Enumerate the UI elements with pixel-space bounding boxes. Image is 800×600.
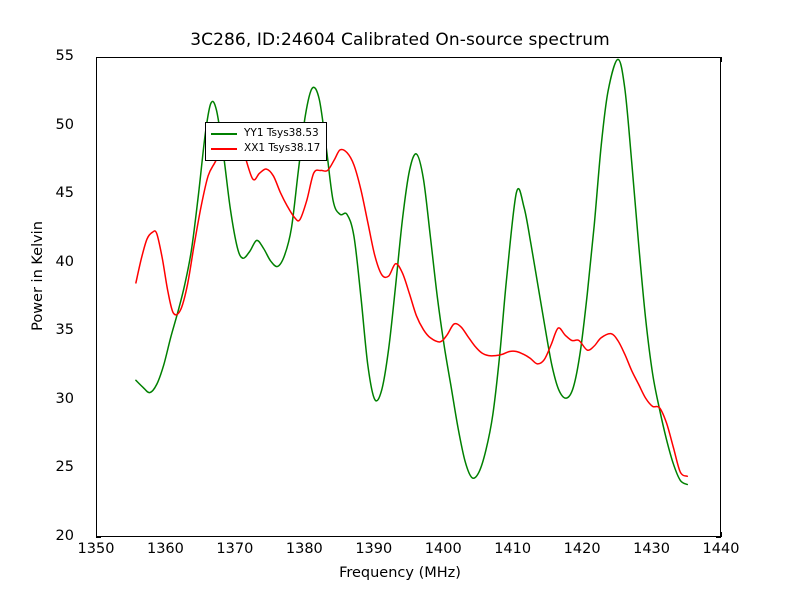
y-tick-label: 40 [14, 254, 74, 270]
x-tick-label: 1350 [61, 541, 131, 557]
y-tick-mark [96, 537, 101, 538]
x-tick-label: 1370 [200, 541, 270, 557]
y-axis-label: Power in Kelvin [30, 86, 46, 466]
x-tick-mark [721, 532, 722, 537]
y-tick-label: 45 [14, 185, 74, 201]
y-tick-mark [716, 537, 721, 538]
x-tick-label: 1360 [130, 541, 200, 557]
x-tick-label: 1440 [686, 541, 756, 557]
y-tick-label: 25 [14, 459, 74, 475]
plot-area: YY1 Tsys38.53 XX1 Tsys38.17 [96, 57, 721, 537]
legend-item: YY1 Tsys38.53 [211, 126, 320, 141]
curve-canvas [97, 58, 720, 536]
x-tick-mark [721, 57, 722, 62]
y-tick-label: 30 [14, 391, 74, 407]
legend-swatch-yy1 [211, 133, 237, 135]
x-tick-label: 1380 [269, 541, 339, 557]
x-tick-label: 1390 [339, 541, 409, 557]
x-tick-label: 1420 [547, 541, 617, 557]
legend: YY1 Tsys38.53 XX1 Tsys38.17 [205, 122, 327, 161]
x-tick-label: 1410 [478, 541, 548, 557]
legend-label-xx1: XX1 Tsys38.17 [244, 141, 320, 156]
y-tick-label: 35 [14, 322, 74, 338]
x-tick-label: 1400 [408, 541, 478, 557]
legend-label-yy1: YY1 Tsys38.53 [244, 126, 319, 141]
y-tick-label: 55 [14, 48, 74, 64]
legend-item: XX1 Tsys38.17 [211, 141, 320, 156]
x-tick-label: 1430 [617, 541, 687, 557]
figure: 3C286, ID:24604 Calibrated On-source spe… [0, 0, 800, 600]
series-line [136, 124, 687, 476]
legend-swatch-xx1 [211, 148, 237, 150]
y-tick-label: 50 [14, 117, 74, 133]
page-title: 3C286, ID:24604 Calibrated On-source spe… [0, 30, 800, 50]
series-svg [97, 58, 720, 536]
x-axis-label: Frequency (MHz) [0, 565, 800, 581]
